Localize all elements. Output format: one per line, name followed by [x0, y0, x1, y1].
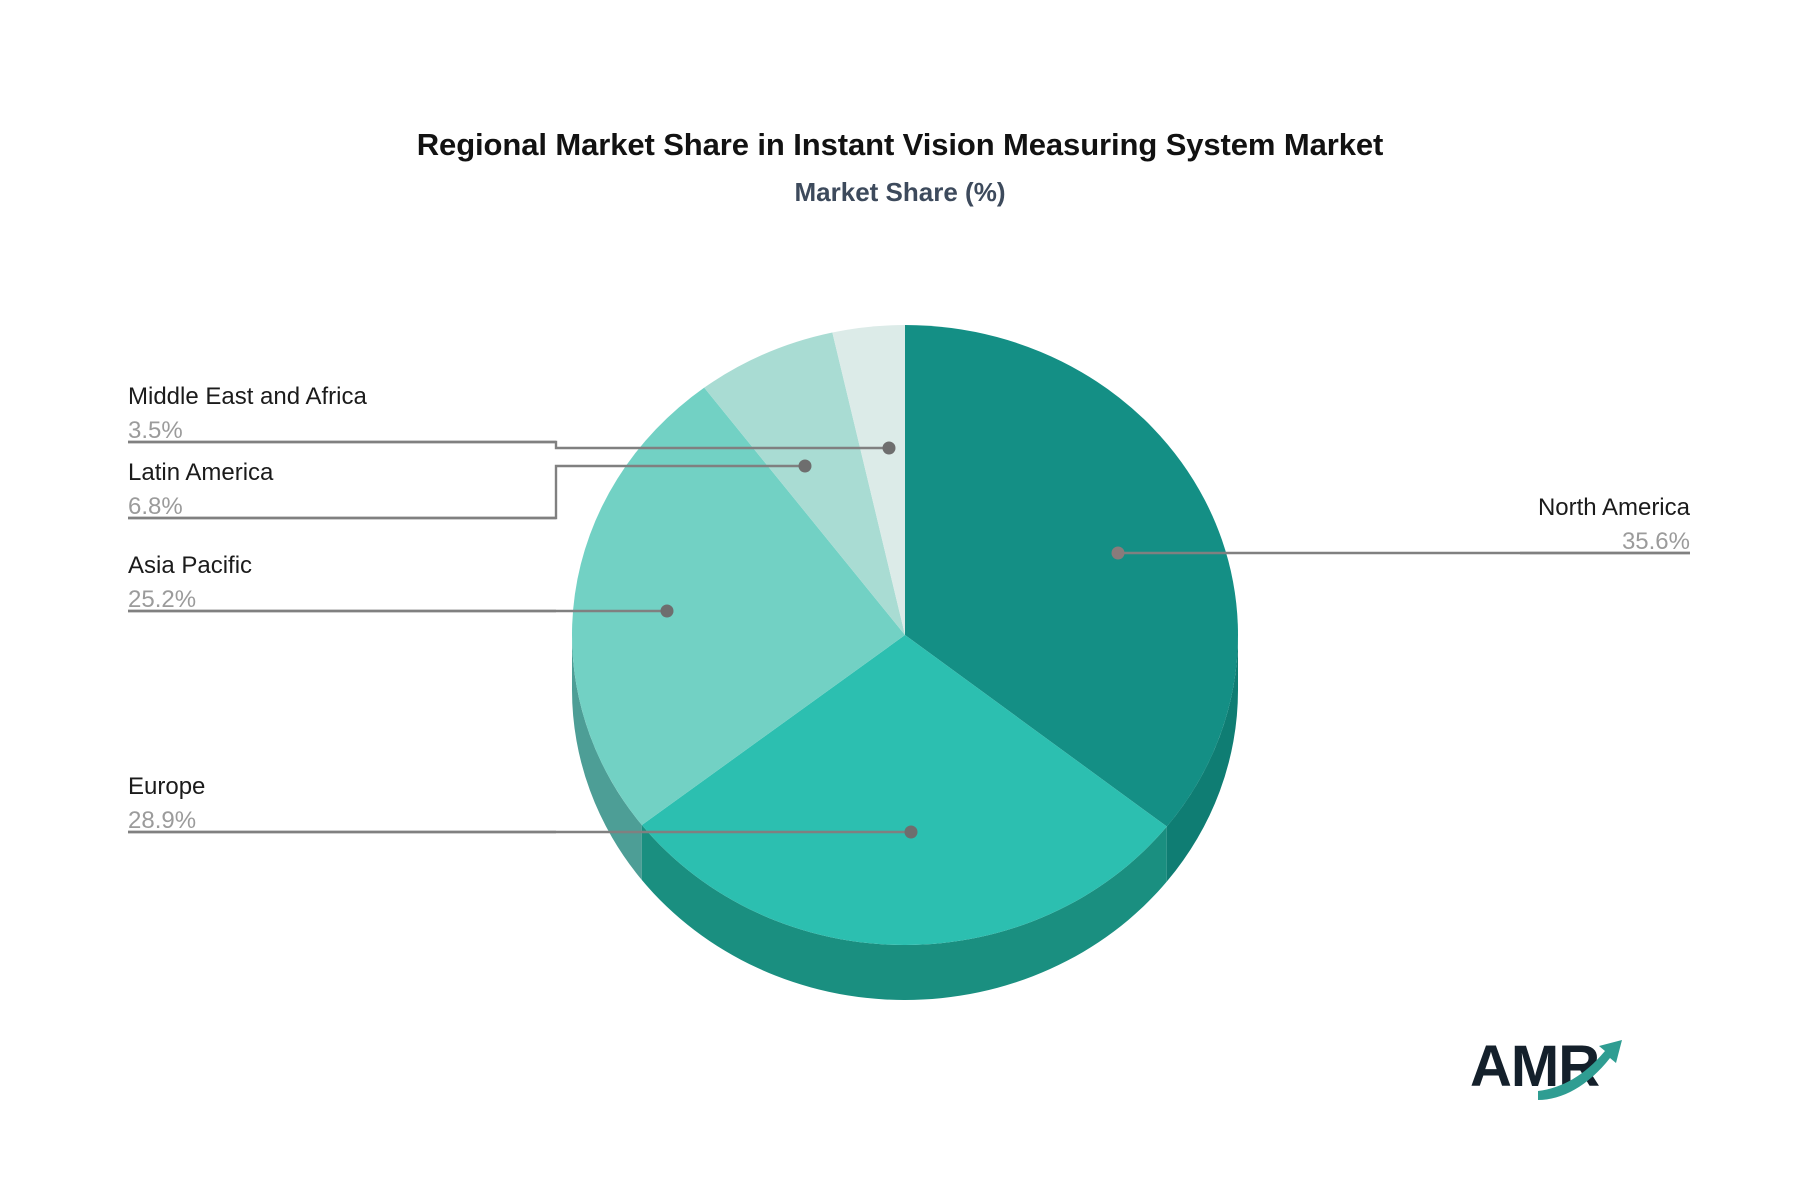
leader-dot-europe	[905, 826, 918, 839]
leader-dot-latin-america	[799, 460, 812, 473]
leader-dot-asia-pacific	[661, 605, 674, 618]
leader-dot-middle-east-and-africa	[883, 442, 896, 455]
pie-slices	[572, 325, 1238, 945]
pie-chart-canvas	[0, 0, 1800, 1196]
leader-dot-north-america	[1112, 547, 1125, 560]
amr-logo: AMR	[1470, 1030, 1650, 1110]
growth-arrow-icon	[1470, 1030, 1650, 1110]
